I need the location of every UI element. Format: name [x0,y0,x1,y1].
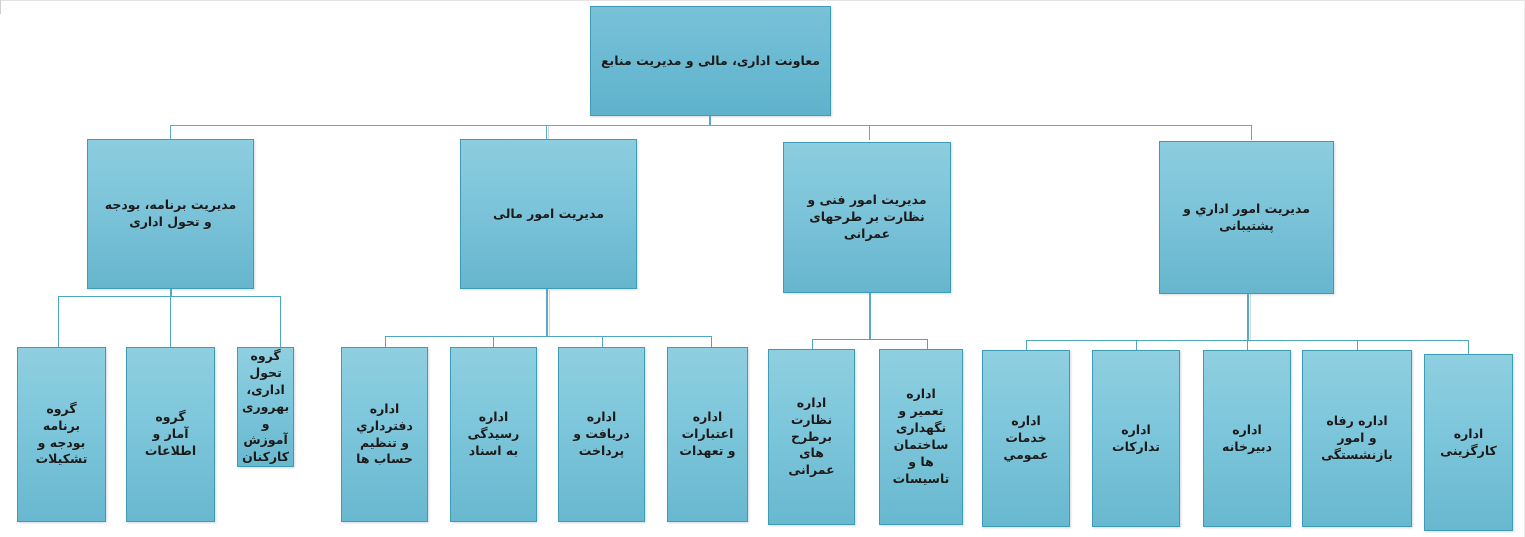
connector-groupC-bus [812,339,928,340]
node-welfare-retirement-office[interactable]: اداره رفاه و امور بازنشستگی [1302,350,1412,527]
connector-level1-drop-4 [1251,125,1252,140]
node-general-services-office-label: اداره خدمات عمومي [983,413,1069,464]
node-document-review-office[interactable]: اداره رسیدگی به اسناد [450,347,537,522]
connector-groupB-drop-3 [602,336,603,347]
node-planning-budget-admin-reform-label: مدیریت برنامه، بودجه و تحول اداری [88,197,253,231]
node-receipts-payments-office[interactable]: اداره دریافت و پرداخت [558,347,645,522]
connector-groupD-drop-2 [1136,340,1137,350]
connector-level1-drop-2 [546,125,547,140]
node-credits-obligations-office-label: اداره اعتبارات و تعهدات [668,409,747,460]
node-program-budget-organization-group[interactable]: گروه برنامه بودجه و تشکیلات [17,347,106,522]
node-program-budget-organization-group-label: گروه برنامه بودجه و تشکیلات [18,401,105,469]
node-welfare-retirement-office-label: اداره رفاه و امور بازنشستگی [1303,413,1411,464]
node-bookkeeping-accounts-office[interactable]: اداره دفترداري و تنظیم حساب ها [341,347,428,522]
connector-groupA-drop-2 [170,296,171,347]
connector-groupA-drop-1 [58,296,59,347]
connector-level1-bus [170,125,1252,126]
connector-groupD-drop-3 [1247,340,1248,350]
connector-groupB-drop-1 [385,336,386,347]
node-statistics-information-group-label: گروه آمار و اطلاعات [127,409,214,460]
node-bookkeeping-accounts-office-label: اداره دفترداري و تنظیم حساب ها [342,401,427,469]
org-chart: معاونت اداری، مالی و مدیریت منابع مدیریت… [0,0,1525,537]
node-secretariat-office-label: اداره دبیرخانه [1204,422,1290,456]
connector-groupB-stem [546,289,548,336]
connector-groupD-stem [1247,293,1249,340]
connector-groupC-drop-1 [812,339,813,349]
node-construction-projects-supervision-office[interactable]: اداره نظارت برطرح های عمرانی [768,349,855,525]
node-receipts-payments-office-label: اداره دریافت و پرداخت [559,409,644,460]
node-secretariat-office[interactable]: اداره دبیرخانه [1203,350,1291,527]
node-construction-projects-supervision-office-label: اداره نظارت برطرح های عمرانی [769,395,854,479]
node-credits-obligations-office[interactable]: اداره اعتبارات و تعهدات [667,347,748,522]
connector-groupB-bus [385,336,711,337]
connector-level1-drop-2-shadow [548,126,549,140]
connector-groupB-drop-4 [711,336,712,347]
connector-groupC-stem [869,291,871,339]
page-border-top [0,0,1525,1]
connector-groupD-drop-1 [1026,340,1027,350]
node-financial-affairs-label: مدیریت امور مالی [461,206,636,223]
node-planning-budget-admin-reform[interactable]: مدیریت برنامه، بودجه و تحول اداری [87,139,254,289]
node-root-label: معاونت اداری، مالی و مدیریت منابع [591,53,830,70]
connector-level1-drop-3 [869,125,870,140]
node-document-review-office-label: اداره رسیدگی به اسناد [451,409,536,460]
connector-groupD-drop-4 [1357,340,1358,350]
node-root[interactable]: معاونت اداری، مالی و مدیریت منابع [590,6,831,116]
connector-groupC-drop-2 [927,339,928,349]
node-administrative-support-label: مدیریت امور اداري و پشتیبانی [1160,201,1333,235]
connector-groupB-drop-2 [493,336,494,347]
connector-groupA-drop-3 [280,296,281,347]
connector-groupA-bus [58,296,280,297]
node-recruitment-office[interactable]: اداره کارگزینی [1424,354,1513,531]
node-financial-affairs[interactable]: مدیریت امور مالی [460,139,637,289]
node-building-maintenance-office[interactable]: اداره تعمیر و نگهداری ساختمان ها و تاسیس… [879,349,963,525]
node-procurement-office-label: اداره تدارکات [1093,422,1179,456]
node-technical-affairs-label: مدیریت امور فنی و نظارت بر طرحهای عمرانی [784,192,950,243]
node-building-maintenance-office-label: اداره تعمیر و نگهداری ساختمان ها و تاسیس… [880,386,962,487]
node-procurement-office[interactable]: اداره تدارکات [1092,350,1180,527]
node-admin-reform-productivity-training-group[interactable]: گروه تحول اداری، بهروری و آموزش کارکنان [237,347,294,467]
node-general-services-office[interactable]: اداره خدمات عمومي [982,350,1070,527]
node-technical-affairs[interactable]: مدیریت امور فنی و نظارت بر طرحهای عمرانی [783,142,951,293]
node-statistics-information-group[interactable]: گروه آمار و اطلاعات [126,347,215,522]
node-admin-reform-productivity-training-group-label: گروه تحول اداری، بهروری و آموزش کارکنان [238,348,293,466]
node-administrative-support[interactable]: مدیریت امور اداري و پشتیبانی [1159,141,1334,294]
connector-level1-drop-1 [170,125,171,140]
connector-groupB-stem-shadow [549,290,550,336]
page-border-left [0,0,1,14]
node-recruitment-office-label: اداره کارگزینی [1425,426,1512,460]
connector-groupD-drop-5 [1468,340,1469,354]
connector-groupD-stem-shadow [1250,294,1251,340]
